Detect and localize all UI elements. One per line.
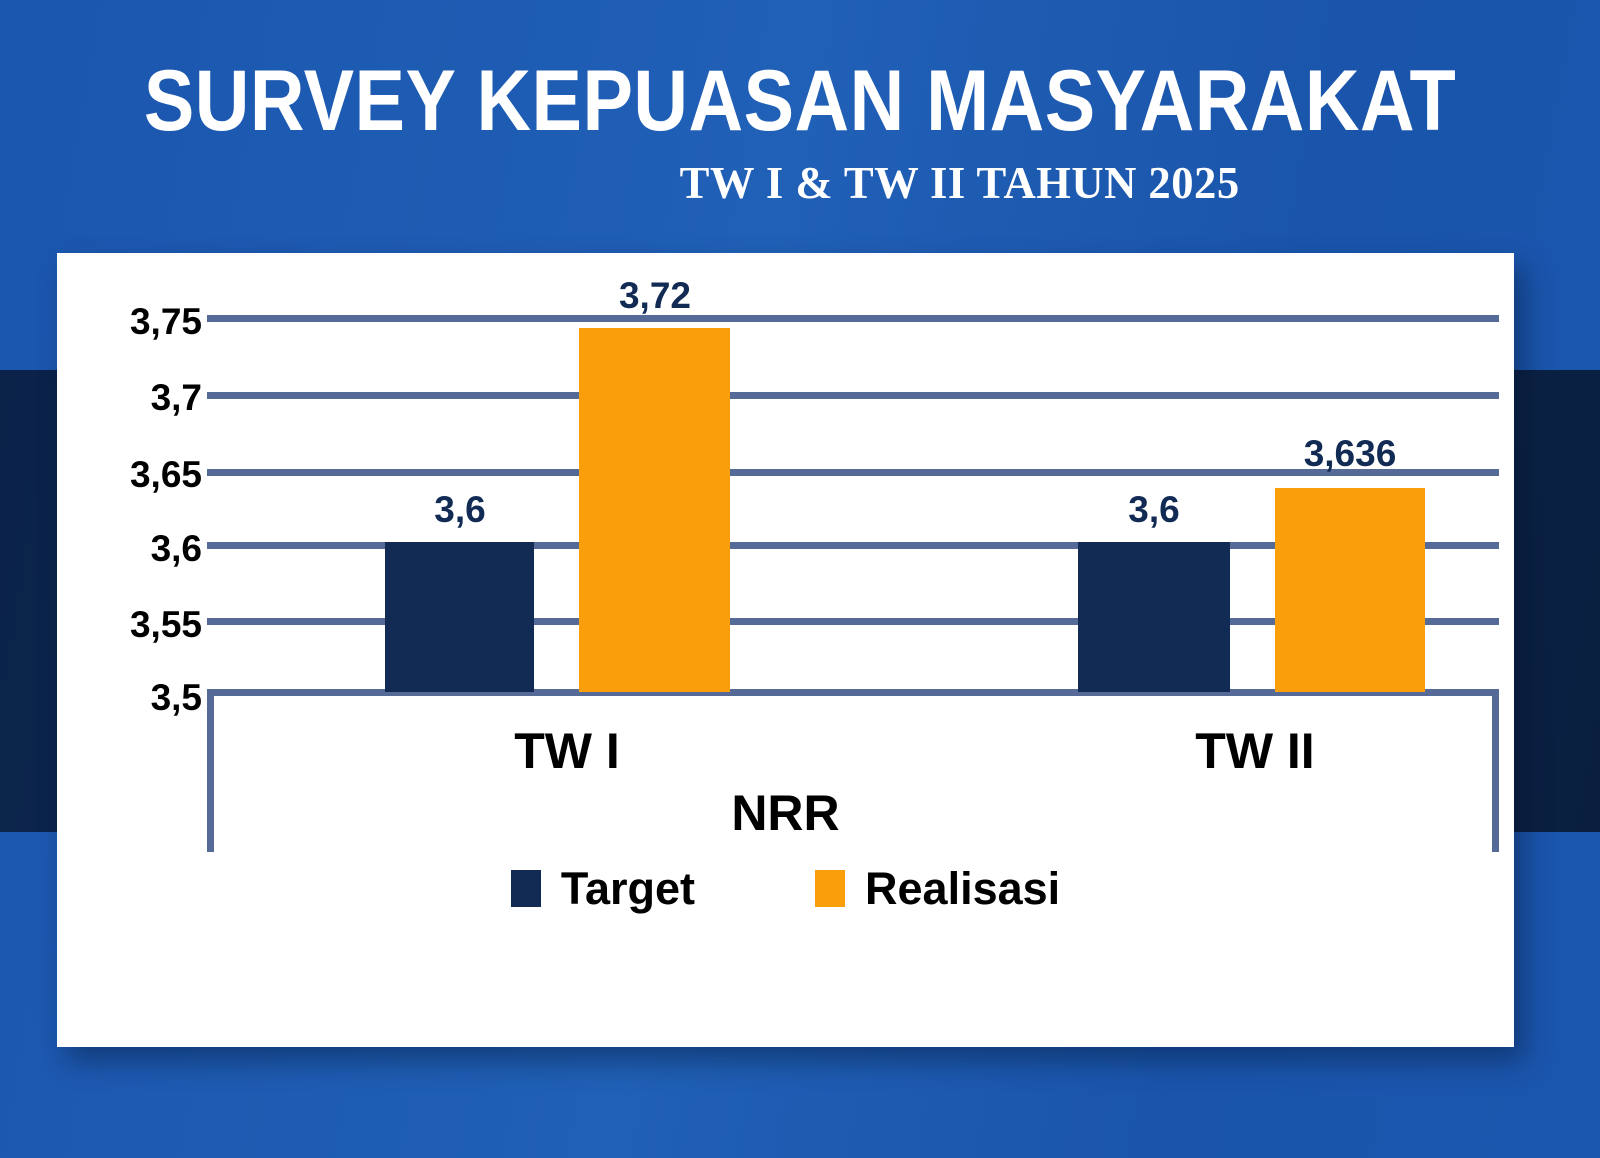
legend-label-realisasi: Realisasi — [865, 866, 1060, 911]
y-tick-label-3-50: 3,5 — [22, 679, 202, 716]
gridline-3-70 — [207, 392, 1499, 399]
y-tick-label-3-65: 3,65 — [22, 456, 202, 493]
bar-label-target-tw-i: 3,6 — [325, 491, 595, 528]
bar-target-tw-i[interactable] — [385, 542, 534, 692]
legend-label-target: Target — [561, 866, 695, 911]
legend-swatch-target-icon — [511, 870, 541, 907]
y-tick-label-3-60: 3,6 — [22, 530, 202, 567]
bar-realisasi-tw-i[interactable] — [579, 328, 730, 692]
bar-label-realisasi-tw-ii: 3,636 — [1215, 435, 1485, 472]
bar-label-realisasi-tw-i: 3,72 — [520, 277, 790, 314]
legend-swatch-realisasi-icon — [815, 870, 845, 907]
legend-item-realisasi[interactable]: Realisasi — [815, 866, 1060, 911]
bar-target-tw-ii[interactable] — [1078, 542, 1230, 692]
category-label-tw-ii: TW II — [1120, 726, 1390, 776]
chart-card: 3,75 3,7 3,65 3,6 3,55 3,5 3,6 3,72 3,6 … — [57, 253, 1514, 1047]
y-tick-label-3-75: 3,75 — [22, 303, 202, 340]
legend-item-target[interactable]: Target — [511, 866, 695, 911]
y-tick-label-3-55: 3,55 — [22, 606, 202, 643]
bar-realisasi-tw-ii[interactable] — [1275, 488, 1425, 692]
bar-label-target-tw-ii: 3,6 — [1019, 491, 1289, 528]
infographic-canvas: SURVEY KEPUASAN MASYARAKAT TW I & TW II … — [0, 0, 1600, 1158]
chart-legend: Target Realisasi — [57, 866, 1514, 911]
x-axis-title: NRR — [57, 788, 1514, 838]
chart-plot-area: 3,75 3,7 3,65 3,6 3,55 3,5 3,6 3,72 3,6 … — [57, 253, 1514, 1047]
y-tick-label-3-70: 3,7 — [22, 379, 202, 416]
gridline-3-75 — [207, 315, 1499, 322]
category-label-tw-i: TW I — [432, 726, 702, 776]
